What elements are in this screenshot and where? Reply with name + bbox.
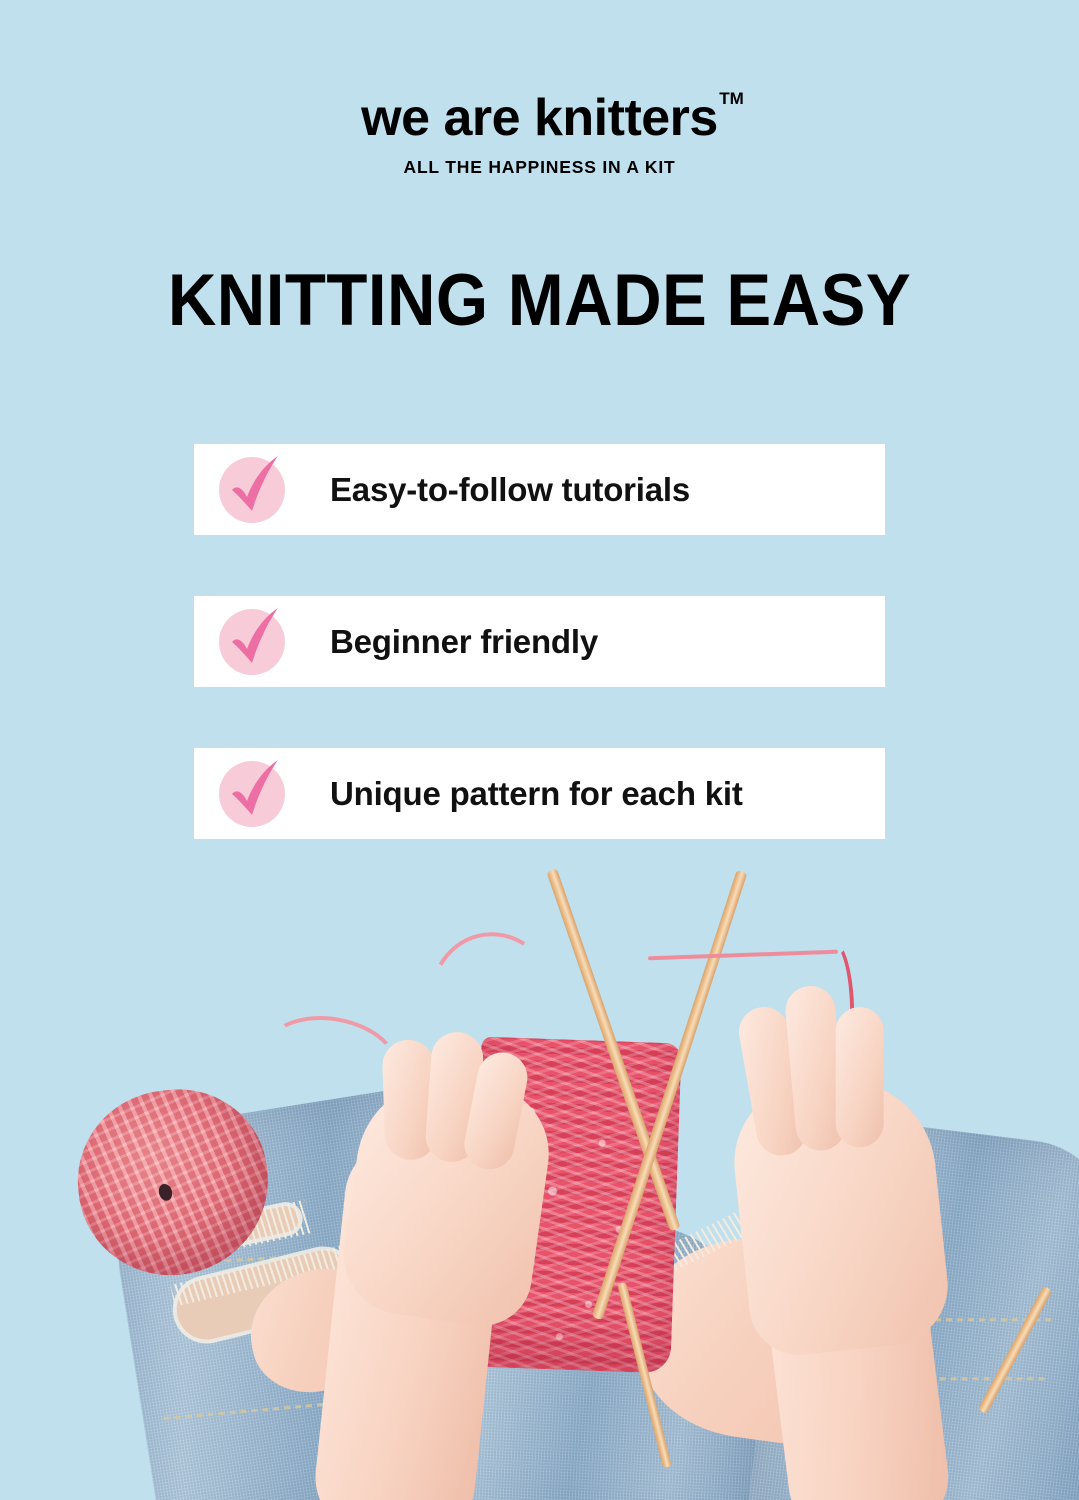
- hand-right: [726, 1070, 953, 1359]
- brand-tagline: ALL THE HAPPINESS IN A KIT: [0, 157, 1079, 178]
- poster: we are knittersTM ALL THE HAPPINESS IN A…: [0, 0, 1079, 1500]
- yarn-ball-hole: [157, 1182, 174, 1202]
- feature-label: Beginner friendly: [330, 623, 598, 661]
- feature-label: Easy-to-follow tutorials: [330, 471, 690, 509]
- hero-photo: [0, 850, 1079, 1500]
- check-icon: [216, 606, 288, 678]
- feature-list: Easy-to-follow tutorials Beginner friend…: [194, 444, 885, 900]
- brand-logo: we are knittersTM: [361, 92, 718, 144]
- check-icon: [216, 758, 288, 830]
- check-icon: [216, 454, 288, 526]
- page-title: KNITTING MADE EASY: [43, 264, 1036, 337]
- feature-item-beginner: Beginner friendly: [194, 596, 885, 687]
- working-yarn: [648, 950, 838, 961]
- feature-label: Unique pattern for each kit: [330, 775, 743, 813]
- finger: [836, 1007, 884, 1147]
- feature-item-pattern: Unique pattern for each kit: [194, 748, 885, 839]
- feature-item-tutorials: Easy-to-follow tutorials: [194, 444, 885, 535]
- brand-logo-text: we are knitters: [361, 89, 718, 147]
- brand-block: we are knittersTM ALL THE HAPPINESS IN A…: [0, 92, 1079, 178]
- trademark-icon: TM: [719, 90, 744, 107]
